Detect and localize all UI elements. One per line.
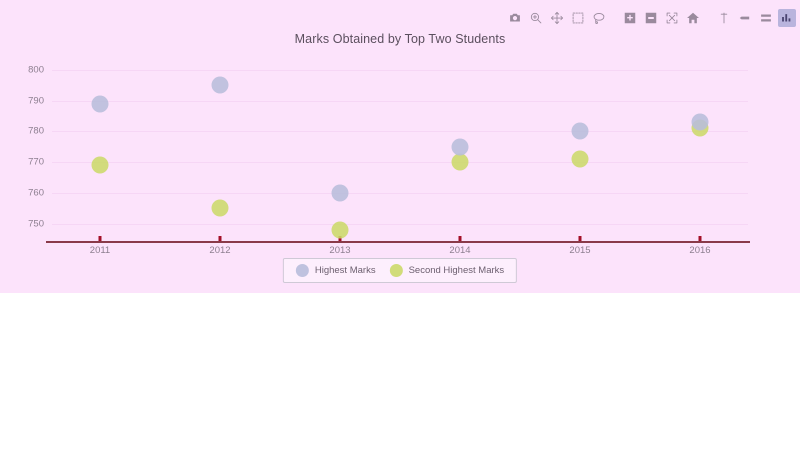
data-point-marker[interactable]: [332, 221, 349, 238]
x-axis-tick-mark: [579, 236, 582, 241]
y-gridline: 770: [52, 162, 748, 163]
data-point-marker[interactable]: [452, 138, 469, 155]
chart-legend[interactable]: Highest MarksSecond Highest Marks: [283, 258, 517, 283]
x-axis-line: [46, 241, 750, 243]
x-axis-tick-label: 2011: [90, 245, 110, 256]
plotly-modebar[interactable]: [506, 9, 796, 27]
x-axis-tick-label: 2016: [689, 245, 710, 256]
lasso-select-icon[interactable]: [590, 9, 608, 27]
data-point-marker[interactable]: [92, 95, 109, 112]
y-axis-tick-label: 750: [28, 218, 44, 229]
data-point-marker[interactable]: [692, 114, 709, 131]
plotly-chart-app: Marks Obtained by Top Two Students 75076…: [0, 0, 800, 450]
y-axis-tick-label: 790: [28, 95, 44, 106]
hover-compare-icon[interactable]: [736, 9, 754, 27]
page-title: Marks Obtained by Top Two Students: [0, 32, 800, 46]
hover-closest-icon[interactable]: [757, 9, 775, 27]
y-axis-tick-label: 800: [28, 65, 44, 76]
zoom-icon[interactable]: [527, 9, 545, 27]
data-point-marker[interactable]: [212, 200, 229, 217]
data-point-marker[interactable]: [572, 123, 589, 140]
y-gridline: 760: [52, 193, 748, 194]
plotly-logo-icon[interactable]: [778, 9, 796, 27]
data-point-marker[interactable]: [332, 184, 349, 201]
x-axis-tick-label: 2012: [209, 245, 230, 256]
y-axis-tick-label: 760: [28, 187, 44, 198]
x-axis-tick-mark: [459, 236, 462, 241]
reset-axes-home-icon[interactable]: [684, 9, 702, 27]
y-axis-tick-label: 780: [28, 126, 44, 137]
y-gridline: 750: [52, 224, 748, 225]
data-point-marker[interactable]: [572, 151, 589, 168]
data-point-marker[interactable]: [212, 77, 229, 94]
data-point-marker[interactable]: [452, 154, 469, 171]
x-axis-tick-label: 2014: [449, 245, 470, 256]
legend-item-label: Highest Marks: [315, 265, 376, 276]
legend-item-label: Second Highest Marks: [409, 265, 505, 276]
legend-item[interactable]: Highest Marks: [296, 264, 376, 277]
legend-swatch-icon: [296, 264, 309, 277]
x-axis-tick-mark: [699, 236, 702, 241]
y-gridline: 790: [52, 101, 748, 102]
data-point-marker[interactable]: [92, 157, 109, 174]
x-axis-tick-mark: [219, 236, 222, 241]
x-axis-tick-label: 2013: [329, 245, 350, 256]
toggle-spike-lines-icon[interactable]: [715, 9, 733, 27]
y-gridline: 800: [52, 70, 748, 71]
legend-swatch-icon: [390, 264, 403, 277]
x-axis-tick-mark: [99, 236, 102, 241]
y-gridline: 780: [52, 131, 748, 132]
autoscale-icon[interactable]: [663, 9, 681, 27]
y-axis-tick-label: 770: [28, 157, 44, 168]
zoom-in-icon[interactable]: [621, 9, 639, 27]
plot-area: 750760770780790800: [52, 70, 748, 242]
pan-icon[interactable]: [548, 9, 566, 27]
legend-item[interactable]: Second Highest Marks: [390, 264, 505, 277]
zoom-out-icon[interactable]: [642, 9, 660, 27]
box-select-icon[interactable]: [569, 9, 587, 27]
download-plot-icon[interactable]: [506, 9, 524, 27]
x-axis-tick-label: 2015: [569, 245, 590, 256]
